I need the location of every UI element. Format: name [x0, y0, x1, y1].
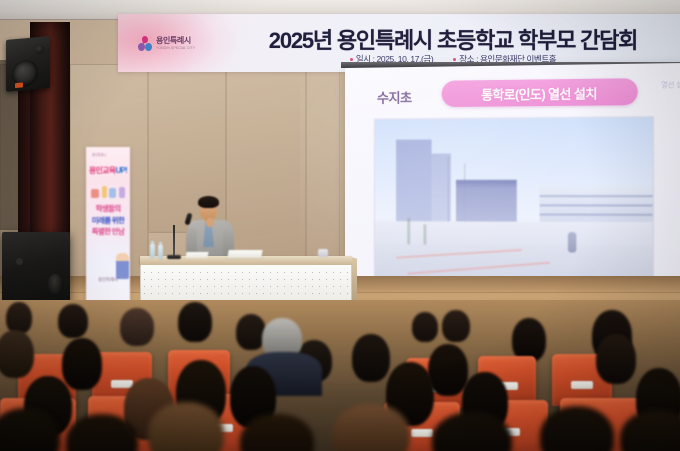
attendee-head	[428, 344, 468, 396]
standing-banner-line3: 특별한 만남	[86, 226, 130, 238]
standing-banner-icons	[91, 180, 125, 198]
city-logo-icon	[138, 36, 152, 52]
slide-photo	[375, 117, 653, 291]
slide-headline-pill: 통학로(인도) 열선 설치	[442, 78, 638, 107]
head-table-skirt	[140, 265, 352, 305]
attendee-head	[412, 312, 438, 342]
illustration-child	[116, 253, 129, 279]
attendee-head	[120, 308, 154, 346]
pencil-icon	[102, 186, 107, 198]
slide-side-note: 열선 설치	[661, 82, 680, 91]
presenter-hair	[198, 196, 219, 208]
standing-banner-line2: 미래를 위한	[86, 215, 130, 227]
attendee-head	[442, 310, 470, 342]
standing-banner-headline-text: 용인교육	[89, 166, 116, 175]
cup	[318, 249, 328, 257]
document-papers	[227, 250, 262, 258]
standing-banner-headline-accent: UP!	[115, 166, 127, 175]
bulb-icon	[109, 188, 116, 198]
attendee-head	[58, 304, 88, 338]
standing-banner-lines: 학생들의 미래를 위한 특별한 만남	[86, 203, 130, 238]
water-bottle	[158, 245, 163, 259]
standing-banner-headline: 용인교육UP!	[86, 165, 130, 176]
city-logo-name-en: YONGIN SPECIAL CITY	[156, 47, 195, 50]
attendee-head	[178, 302, 212, 342]
ceiling-loudspeaker	[6, 36, 50, 92]
standing-banner: 용인특례시 용인교육UP! 학생들의 미래를 위한 특별한 만남 용인특례시	[86, 147, 130, 305]
flask-icon	[119, 187, 125, 198]
city-logo-name: 용인특례시	[156, 37, 195, 45]
standing-banner-footer: 용인특례시	[86, 277, 130, 283]
bullet-icon	[453, 58, 456, 61]
attendee-head	[6, 302, 32, 334]
presenter-hand	[206, 218, 214, 227]
standing-banner-line1: 학생들의	[86, 203, 130, 215]
microphone-base	[167, 255, 181, 259]
banner-title: 2025년 용인특례시 초등학교 학부모 간담회	[238, 23, 668, 55]
city-logo: 용인특례시 YONGIN SPECIAL CITY	[138, 32, 216, 56]
attendee-head	[0, 330, 34, 378]
attendee-head	[352, 334, 390, 382]
standing-banner-brand: 용인특례시	[92, 152, 106, 157]
attendee-head	[596, 334, 636, 384]
slide-school-label: 수지초	[377, 87, 412, 107]
attendee-head	[62, 338, 102, 390]
bullet-icon	[350, 58, 353, 61]
water-bottle	[150, 244, 155, 258]
microphone-stand	[173, 225, 175, 257]
slide-headline-text: 통학로(인도) 열선 설치	[481, 82, 597, 103]
audience-area	[0, 300, 680, 451]
document-papers	[186, 252, 209, 258]
book-icon	[91, 189, 99, 198]
event-photo: 용인특례시 YONGIN SPECIAL CITY 2025년 용인특례시 초등…	[0, 0, 680, 451]
